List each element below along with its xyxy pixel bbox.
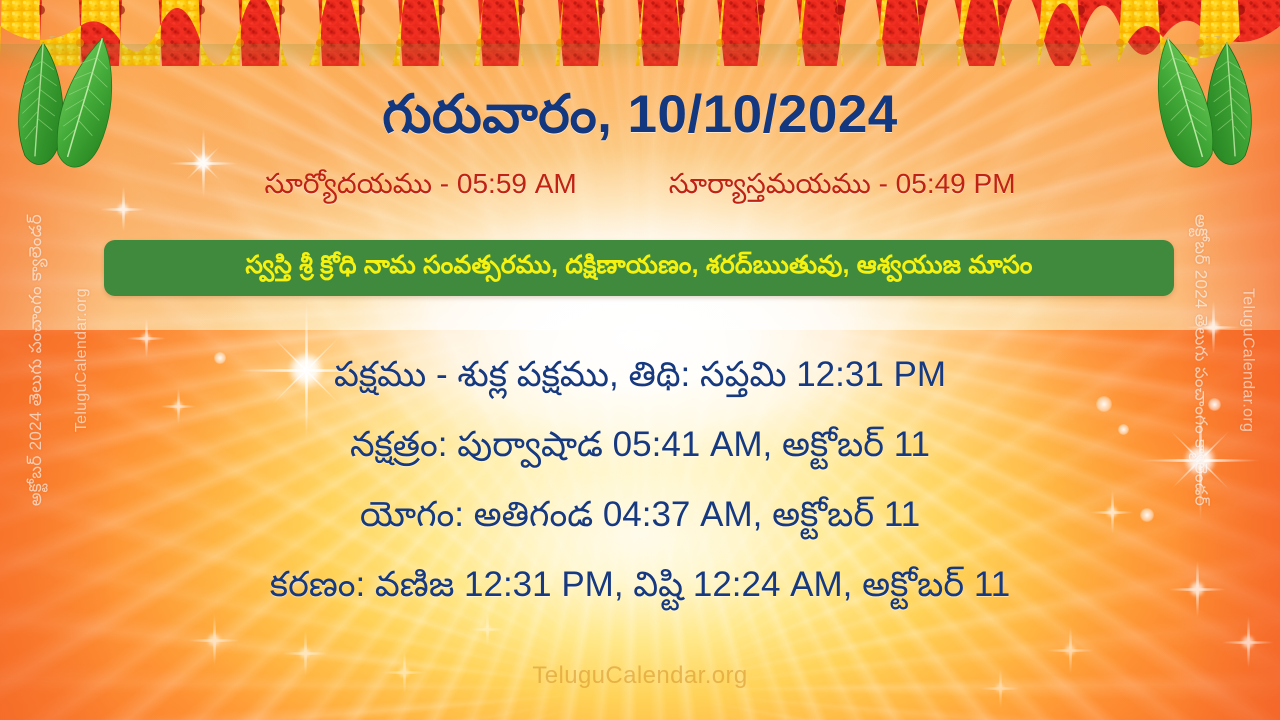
page-title: గురువారం, 10/10/2024 [0, 86, 1280, 144]
panchangam-line-paksham-tithi: పక్షము - శుక్ల పక్షము, తిథి: సప్తమి 12:3… [0, 340, 1280, 410]
panchangam-details: పక్షము - శుక్ల పక్షము, తిథి: సప్తమి 12:3… [0, 340, 1280, 620]
panchangam-line-nakshatram: నక్షత్రం: పుర్వాషాడ 05:41 AM, అక్టోబర్ 1… [0, 410, 1280, 480]
samvatsaram-banner-text: స్వస్తి శ్రీ క్రోధి నామ సంవత్సరము, దక్షి… [245, 251, 1032, 286]
sunset-text: సూర్యాస్తమయము - 05:49 PM [669, 167, 1016, 201]
sun-times-row: సూర్యోదయము - 05:59 AM సూర్యాస్తమయము - 05… [0, 167, 1280, 201]
content-area: గురువారం, 10/10/2024 సూర్యోదయము - 05:59 … [0, 0, 1280, 720]
samvatsaram-banner: స్వస్తి శ్రీ క్రోధి నామ సంవత్సరము, దక్షి… [104, 240, 1174, 296]
sunrise-text: సూర్యోదయము - 05:59 AM [264, 167, 576, 201]
panchangam-line-yogam: యోగం: అతిగండ 04:37 AM, అక్టోబర్ 11 [0, 480, 1280, 550]
panchangam-card: అక్టోబర్ 2024 తెలుగు పంచాంగం క్యాలెండర్ … [0, 0, 1280, 720]
footer-watermark: TeluguCalendar.org [0, 662, 1280, 690]
panchangam-line-karanam: కరణం: వణిజ 12:31 PM, విష్టి 12:24 AM, అక… [0, 550, 1280, 620]
